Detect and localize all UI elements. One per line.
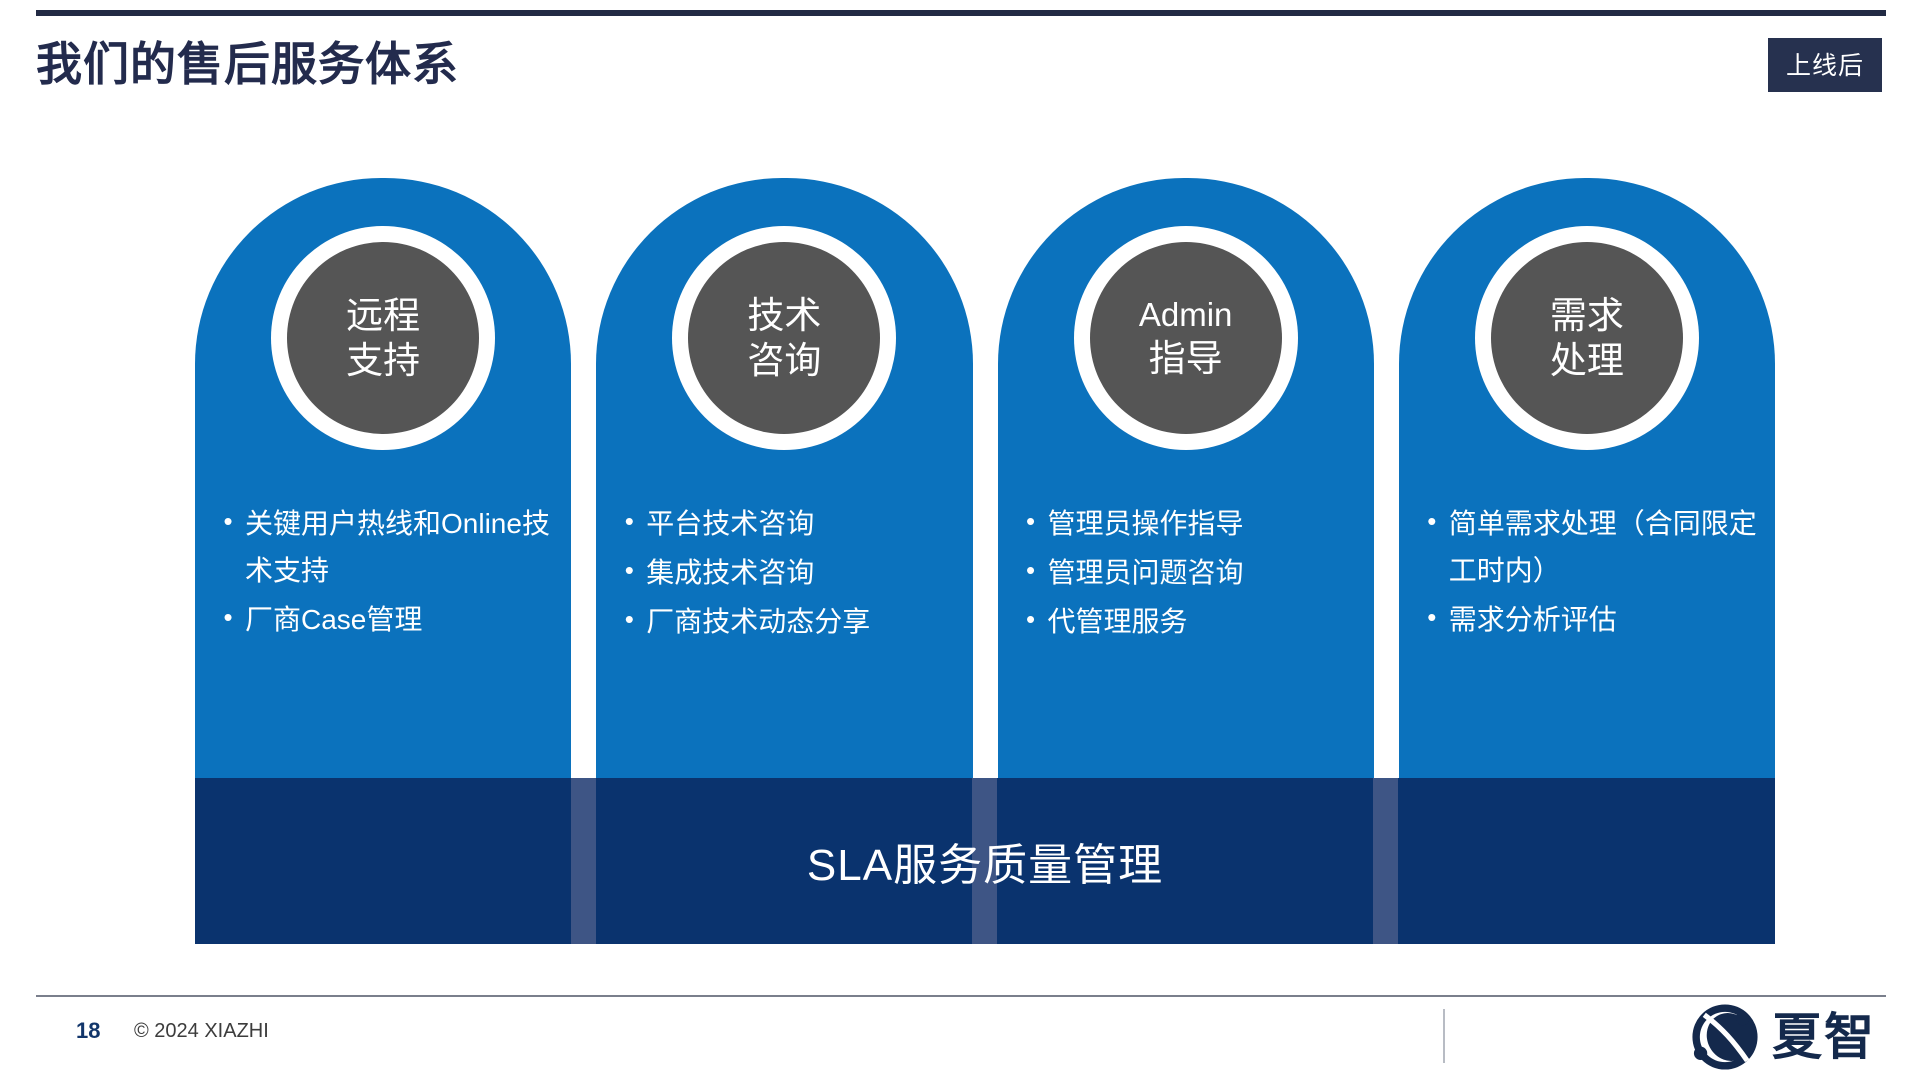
list-item-label: 简单需求处理（合同限定工时内）	[1449, 500, 1761, 594]
footer-rule	[36, 995, 1886, 997]
pillar-circle: 需求 处理	[1491, 242, 1683, 434]
logo-wordmark: 夏智	[1772, 1012, 1876, 1062]
footer-divider	[1443, 1009, 1445, 1063]
sla-band-label: SLA服务质量管理	[807, 829, 1163, 893]
pillar-circle: 技术 咨询	[688, 242, 880, 434]
pillar-bullet-list: • 平台技术咨询 • 集成技术咨询 • 厂商技术动态分享	[596, 500, 972, 647]
pillar-bullet-list: • 管理员操作指导 • 管理员问题咨询 • 代管理服务	[998, 500, 1374, 647]
list-item: • 厂商技术动态分享	[612, 598, 958, 645]
pillar-circle-line: 远程	[346, 293, 420, 338]
sla-base-band: SLA服务质量管理	[195, 778, 1775, 944]
list-item-label: 管理员问题咨询	[1048, 549, 1360, 596]
bullet-icon: •	[612, 598, 646, 642]
pillar-circle-line: Admin	[1139, 295, 1233, 335]
band-gap-stripe	[571, 778, 596, 944]
pillar-bullet-list: • 简单需求处理（合同限定工时内） • 需求分析评估	[1399, 500, 1775, 645]
bullet-icon: •	[211, 596, 245, 640]
list-item-label: 需求分析评估	[1449, 596, 1761, 643]
list-item-label: 平台技术咨询	[646, 500, 958, 547]
list-item: • 平台技术咨询	[612, 500, 958, 547]
pillar-circle-line: 咨询	[747, 338, 821, 383]
list-item: • 管理员问题咨询	[1014, 549, 1360, 596]
bullet-icon: •	[612, 500, 646, 544]
pillar-circle-ring: 远程 支持	[271, 226, 495, 450]
bullet-icon: •	[1415, 596, 1449, 640]
list-item: • 集成技术咨询	[612, 549, 958, 596]
band-gap-stripe	[1373, 778, 1398, 944]
bullet-icon: •	[612, 549, 646, 593]
list-item-label: 集成技术咨询	[646, 549, 958, 596]
pillar-circle-line: 技术	[747, 293, 821, 338]
header-rule	[36, 10, 1886, 16]
list-item-label: 管理员操作指导	[1048, 500, 1360, 547]
list-item: • 厂商Case管理	[211, 596, 557, 643]
pillar-circle-ring: Admin 指导	[1074, 226, 1298, 450]
pillar-circle: Admin 指导	[1090, 242, 1282, 434]
pillar-bullet-list: • 关键用户热线和Online技术支持 • 厂商Case管理	[195, 500, 571, 645]
list-item: • 代管理服务	[1014, 598, 1360, 645]
stage-badge: 上线后	[1768, 38, 1882, 92]
list-item-label: 代管理服务	[1048, 598, 1360, 645]
bullet-icon: •	[1014, 549, 1048, 593]
list-item: • 关键用户热线和Online技术支持	[211, 500, 557, 594]
list-item-label: 厂商技术动态分享	[646, 598, 958, 645]
list-item: • 管理员操作指导	[1014, 500, 1360, 547]
bullet-icon: •	[211, 500, 245, 544]
pillar-circle: 远程 支持	[287, 242, 479, 434]
list-item-label: 关键用户热线和Online技术支持	[245, 500, 557, 594]
list-item: • 简单需求处理（合同限定工时内）	[1415, 500, 1761, 594]
pillar-circle-ring: 需求 处理	[1475, 226, 1699, 450]
list-item: • 需求分析评估	[1415, 596, 1761, 643]
slide: 我们的售后服务体系 上线后 远程 支持 • 关键用户热线和Online技术支持	[0, 0, 1920, 1080]
bullet-icon: •	[1014, 598, 1048, 642]
brand-logo: 夏智	[1688, 1000, 1876, 1074]
pillar-circle-line: 指导	[1149, 336, 1223, 381]
page-title: 我们的售后服务体系	[36, 28, 459, 94]
bullet-icon: •	[1014, 500, 1048, 544]
pillar-circle-line: 支持	[346, 338, 420, 383]
logo-orbit-icon	[1688, 1000, 1762, 1074]
pillar-circle-line: 需求	[1550, 293, 1624, 338]
pillar-circle-line: 处理	[1550, 338, 1624, 383]
bullet-icon: •	[1415, 500, 1449, 544]
page-number: 18	[76, 1018, 100, 1044]
pillar-circle-ring: 技术 咨询	[672, 226, 896, 450]
copyright-text: © 2024 XIAZHI	[134, 1020, 269, 1043]
list-item-label: 厂商Case管理	[245, 596, 557, 643]
